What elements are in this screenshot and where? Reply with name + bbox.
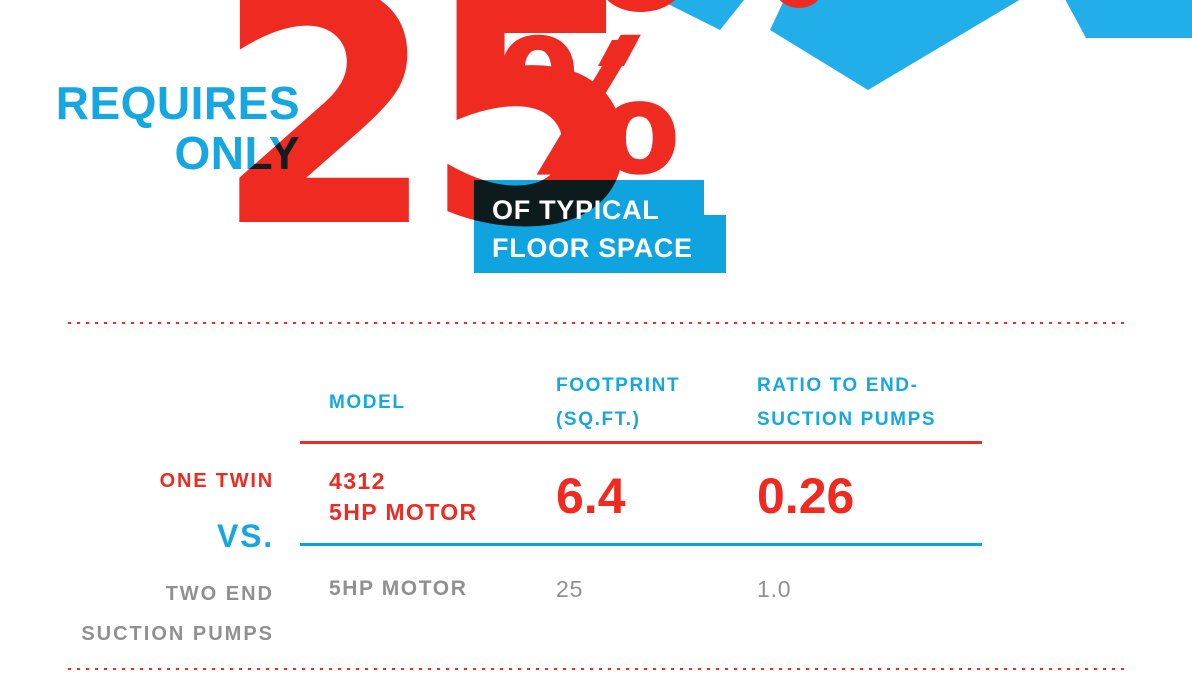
table-rule-red (300, 441, 982, 444)
divider-dotted-top (68, 322, 1124, 324)
comparison-table: MODEL FOOTPRINT (SQ.FT.) RATIO TO END- S… (0, 330, 1192, 670)
percent-symbol: % (496, 16, 681, 201)
row2-cell-model: 5HP MOTOR (329, 574, 467, 604)
hero-section: 25 % REQUIRES ONLY OF TYPICAL FLOOR SPAC… (0, 0, 1192, 300)
eyebrow-text: REQUIRES ONLY (0, 78, 300, 178)
column-header-footprint: FOOTPRINT (SQ.FT.) (556, 369, 680, 437)
eyebrow-line-only: ONLY (0, 128, 300, 178)
row2-cell-ratio: 1.0 (757, 574, 791, 604)
column-header-model: MODEL (329, 386, 406, 420)
divider-dotted-bottom (68, 668, 1124, 670)
row1-cell-model: 4312 5HP MOTOR (329, 466, 478, 528)
infographic-page: 25 % REQUIRES ONLY OF TYPICAL FLOOR SPAC… (0, 0, 1192, 680)
column-header-ratio: RATIO TO END- SUCTION PUMPS (757, 369, 936, 437)
row-label-vs: VS. (42, 518, 274, 554)
row-label-one-twin: ONE TWIN (42, 468, 274, 494)
eyebrow-line-requires: REQUIRES (0, 78, 300, 128)
row1-cell-ratio: 0.26 (757, 470, 854, 522)
row-label-two-end-suction-pumps: TWO END SUCTION PUMPS (42, 574, 274, 654)
callout-text: OF TYPICAL FLOOR SPACE (492, 191, 693, 267)
row2-cell-footprint: 25 (556, 574, 583, 604)
row1-cell-footprint: 6.4 (556, 470, 626, 522)
table-rule-blue (300, 543, 982, 546)
